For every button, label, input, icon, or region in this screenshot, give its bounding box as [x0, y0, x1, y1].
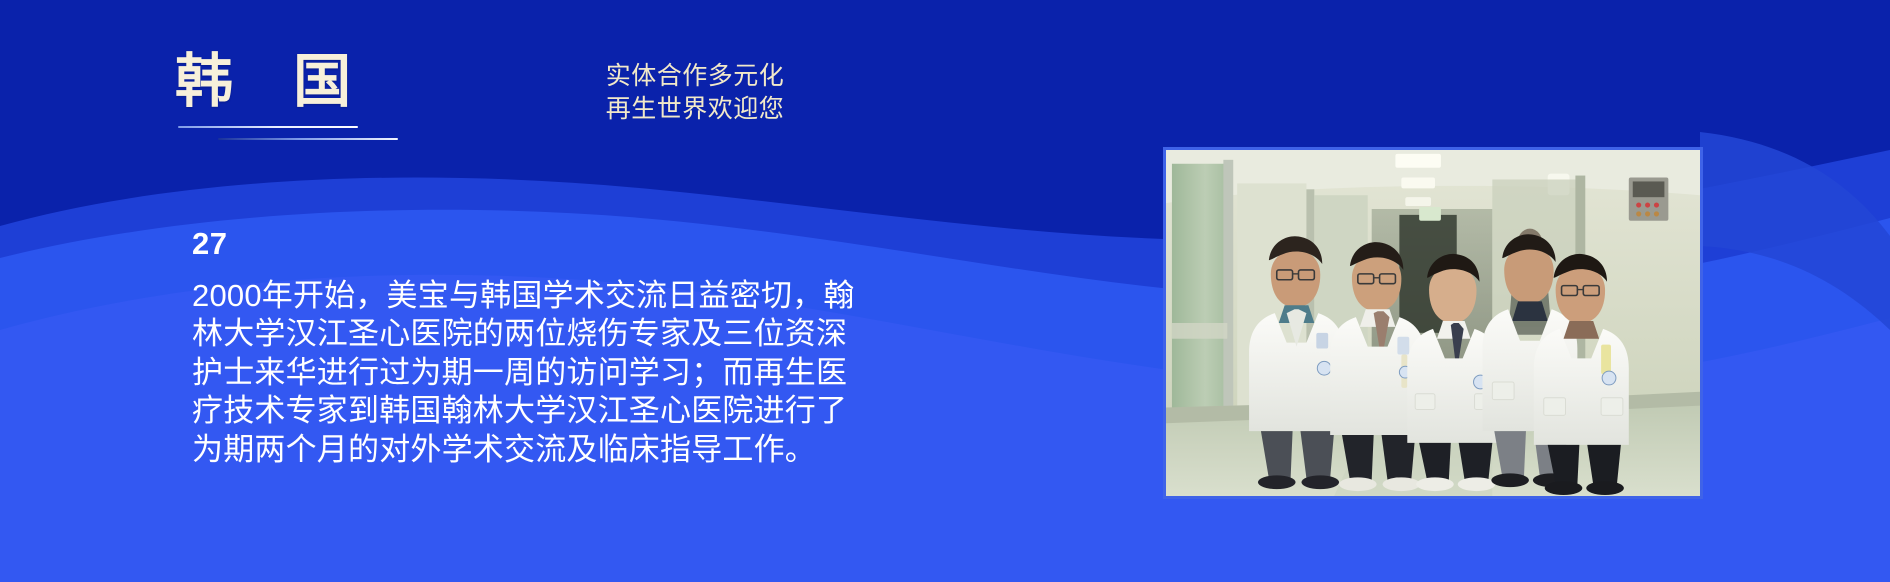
body-line: 2000年开始，美宝与韩国学术交流日益密切，翰 — [192, 277, 1002, 315]
panel-indicator-icon — [1654, 202, 1659, 207]
exit-sign-icon — [1419, 207, 1441, 221]
panel-indicator-icon — [1645, 202, 1650, 207]
panel-indicator-icon — [1636, 202, 1641, 207]
group-photo — [1163, 147, 1703, 499]
group-photo-image — [1166, 150, 1700, 496]
body-paragraph: 2000年开始，美宝与韩国学术交流日益密切，翰 林大学汉江圣心医院的两位烧伤专家… — [192, 277, 1002, 469]
slide-canvas: 韩 国 实体合作多元化 再生世界欢迎您 27 2000年开始，美宝与韩国学术交流… — [0, 0, 1890, 582]
body-line: 护士来华进行过为期一周的访问学习；而再生医 — [192, 354, 1002, 392]
subtitle-line-1: 实体合作多元化 — [570, 60, 820, 93]
partition-rail — [1172, 323, 1227, 339]
panel-indicator-icon — [1654, 211, 1659, 216]
page-title: 韩 国 — [175, 52, 505, 113]
body-line: 疗技术专家到韩国翰林大学汉江圣心医院进行了 — [192, 392, 1002, 430]
title-underline-bottom-icon — [218, 138, 398, 140]
ceiling-light-icon — [1401, 178, 1435, 189]
subtitle-line-2: 再生世界欢迎您 — [570, 93, 820, 126]
ceiling-light-icon — [1395, 154, 1440, 168]
body-line: 为期两个月的对外学术交流及临床指导工作。 — [192, 431, 1002, 469]
panel-indicator-icon — [1636, 211, 1641, 216]
title-text: 韩 国 — [175, 52, 505, 113]
panel-display — [1633, 181, 1665, 197]
subtitle-block: 实体合作多元化 再生世界欢迎您 — [570, 60, 820, 125]
item-number: 27 — [192, 228, 1022, 259]
title-underline-group — [178, 126, 438, 152]
body-line: 林大学汉江圣心医院的两位烧伤专家及三位资深 — [192, 315, 1002, 353]
content-block: 27 2000年开始，美宝与韩国学术交流日益密切，翰 林大学汉江圣心医院的两位烧… — [192, 228, 1022, 469]
panel-indicator-icon — [1645, 211, 1650, 216]
ceiling-light-icon — [1405, 197, 1431, 206]
title-underline-top-icon — [178, 126, 358, 128]
